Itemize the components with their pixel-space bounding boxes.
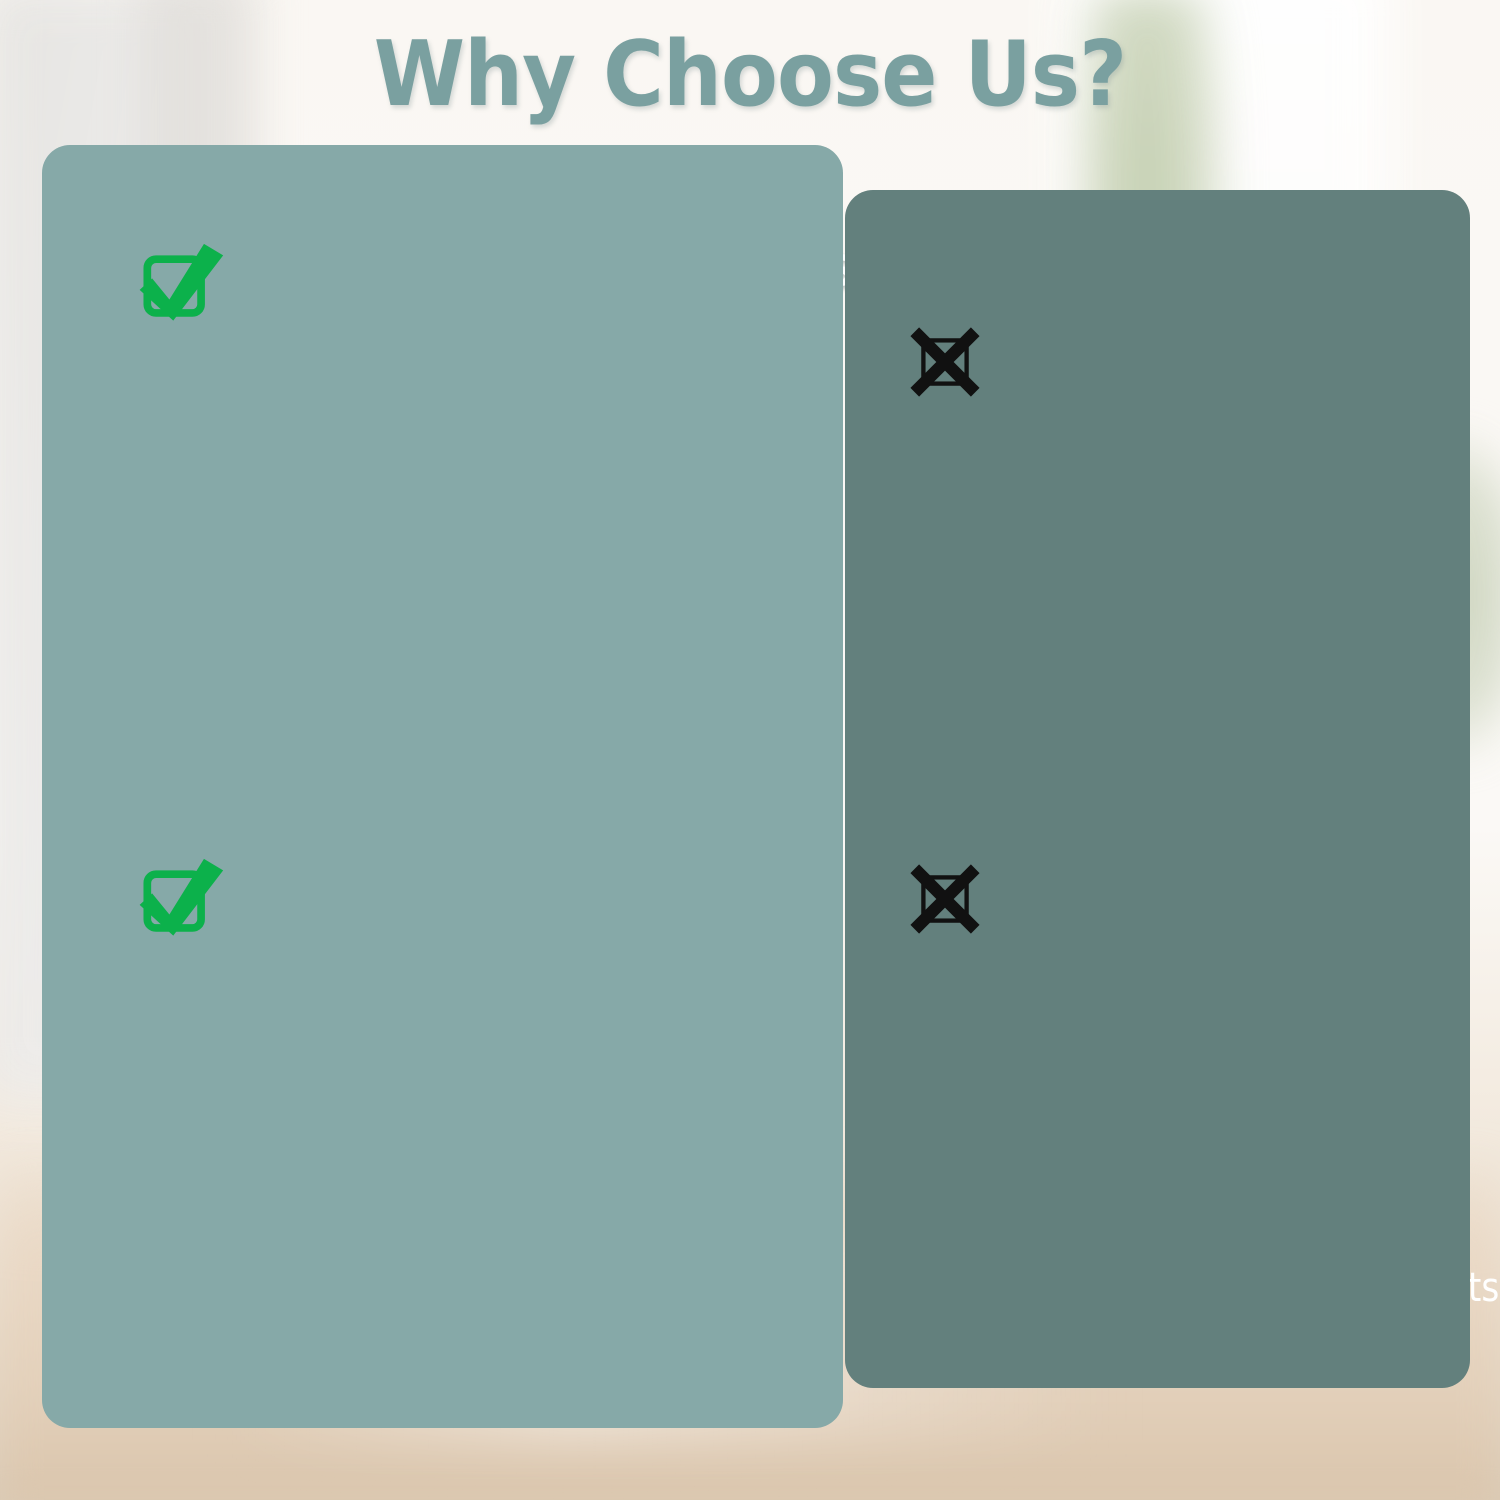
- check-box-icon: [131, 855, 227, 951]
- cross-box-icon: [909, 326, 981, 398]
- page-title: Why Choose Us?: [60, 22, 1440, 127]
- panel-ours: [42, 145, 843, 1428]
- check-box-icon: [131, 240, 227, 336]
- cross-box-icon: [909, 863, 981, 935]
